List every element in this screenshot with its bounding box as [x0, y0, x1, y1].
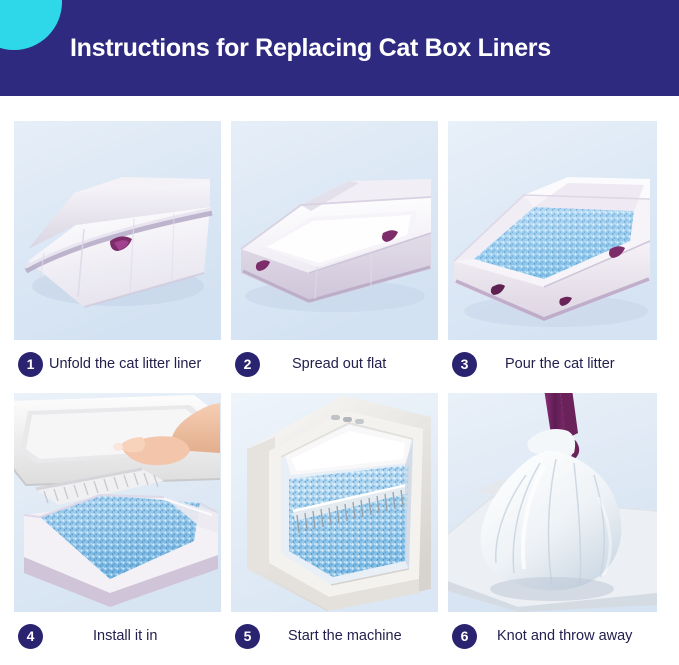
- step-card-1: 1 Unfold the cat litter liner: [14, 121, 221, 388]
- steps-row-1: 1 Unfold the cat litter liner: [14, 121, 665, 388]
- decorative-circle: [0, 0, 62, 50]
- page-title: Instructions for Replacing Cat Box Liner…: [70, 0, 551, 96]
- step-image-3: [448, 121, 657, 340]
- step-caption-text-4: Install it in: [93, 628, 157, 644]
- steps-grid: 1 Unfold the cat litter liner: [14, 121, 665, 665]
- step-badge-1: 1: [18, 352, 43, 377]
- step-image-2: [231, 121, 438, 340]
- step-card-6: 6 Knot and throw away: [448, 393, 657, 660]
- page-header: Instructions for Replacing Cat Box Liner…: [0, 0, 679, 96]
- step-image-6: [448, 393, 657, 612]
- step-image-1: [14, 121, 221, 340]
- step-card-5: 5 Start the machine: [231, 393, 438, 660]
- step-caption-text-6: Knot and throw away: [497, 628, 632, 644]
- step-caption-2: 2 Spread out flat: [231, 340, 438, 388]
- step-caption-text-3: Pour the cat litter: [505, 356, 615, 372]
- step-card-2: 2 Spread out flat: [231, 121, 438, 388]
- step-image-4: [14, 393, 221, 612]
- step-image-5: [231, 393, 438, 612]
- step-badge-3: 3: [452, 352, 477, 377]
- instructions-page: Instructions for Replacing Cat Box Liner…: [0, 0, 679, 653]
- step-caption-text-5: Start the machine: [288, 628, 402, 644]
- step-card-4: 4 Install it in: [14, 393, 221, 660]
- steps-row-2: 4 Install it in: [14, 393, 665, 660]
- step-caption-3: 3 Pour the cat litter: [448, 340, 657, 388]
- step-caption-text-1: Unfold the cat litter liner: [49, 356, 201, 372]
- step-badge-4: 4: [18, 624, 43, 649]
- step-badge-6: 6: [452, 624, 477, 649]
- step-badge-5: 5: [235, 624, 260, 649]
- step-caption-text-2: Spread out flat: [292, 356, 386, 372]
- step-badge-2: 2: [235, 352, 260, 377]
- step-card-3: 3 Pour the cat litter: [448, 121, 657, 388]
- step-caption-1: 1 Unfold the cat litter liner: [14, 340, 221, 388]
